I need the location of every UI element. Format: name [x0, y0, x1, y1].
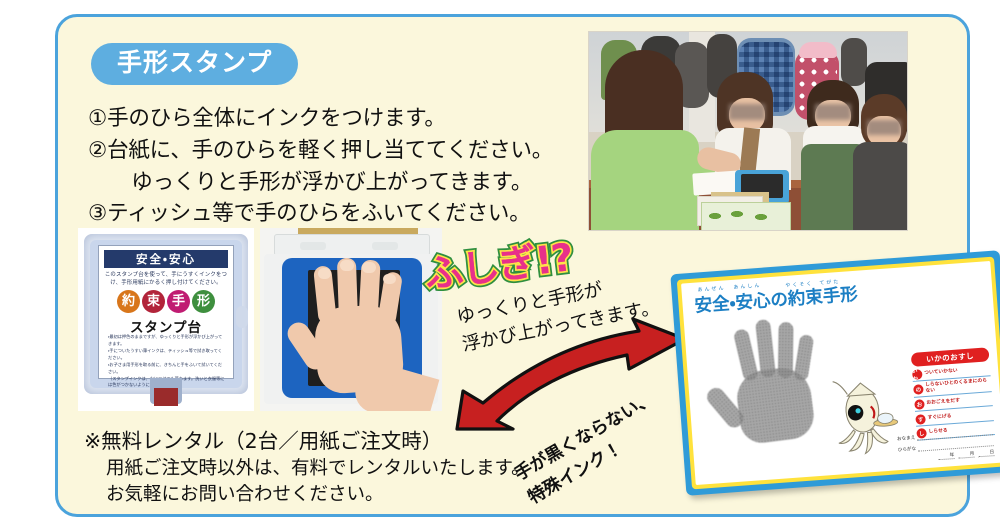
case-fine-line-2: ・手についたうすい薄インクは、ティッシュ等で拭き取ってください。: [108, 348, 226, 362]
case-circle-4: 形: [192, 290, 215, 313]
hand-nail-2: [340, 260, 354, 271]
card-face: あんぜん あんしん やくそく てがた 安全・安心の約束手形: [681, 261, 1000, 485]
case-fine-line-3: ・お子さま用手形を取る前に、きちんと手をふいて拭いてください。: [108, 362, 226, 376]
photo-crowd-person-7: [841, 38, 867, 86]
photo-child-2-face-blur: [815, 104, 851, 120]
ika-text-3: おおごえをだす: [926, 399, 960, 407]
hand-nail-4: [383, 274, 396, 284]
ika-badge-2: の: [913, 384, 924, 395]
case-circle-2: 束: [142, 290, 165, 313]
handprint-finger-middle: [755, 319, 776, 378]
case-circle-3: 手: [167, 290, 190, 313]
photo-box-green-pattern: [707, 208, 783, 224]
content-panel: 手形スタンプ ①手のひら全体にインクをつけます。 ②台紙に、手のひらを軽く押し当…: [55, 14, 970, 517]
section-title-pill: 手形スタンプ: [91, 43, 298, 85]
instruction-step-2-continued: ゆっくりと手形が浮かび上がってきます。: [88, 167, 588, 199]
case-circle-1: 約: [117, 290, 140, 313]
ika-text-2: しらないひとのくるまにのらない: [925, 378, 992, 395]
card-date-day[interactable]: 日: [978, 449, 994, 457]
rental-note: ※無料レンタル（2台／用紙ご注文時） 用紙ご注文時以外は、有料でレンタルいたしま…: [84, 427, 554, 509]
card-date-year[interactable]: 年: [938, 452, 954, 460]
ika-badge-1: いか: [912, 369, 923, 380]
rental-note-line-2: 用紙ご注文時以外は、有料でレンタルいたします。: [84, 456, 554, 482]
instruction-step-1: ①手のひら全体にインクをつけます。: [88, 103, 588, 135]
card-kana-label: ひらがな: [898, 446, 917, 453]
photo-adult-2-face-blur: [867, 120, 901, 135]
handprint-finger-index: [733, 328, 759, 382]
event-photo: [588, 31, 908, 231]
case-fine-line-1: ・最初は押色のままですが、ゆっくりと手形が浮かび上がってきます。: [108, 334, 226, 348]
hand-nail-1: [318, 268, 331, 279]
pad-lid-clip-right: [372, 242, 398, 250]
rental-note-line-3: お気軽にお問い合わせください。: [84, 482, 554, 508]
case-label-title: 安全・安心: [104, 250, 228, 268]
photo-child-1-face-blur: [729, 104, 765, 120]
case-label-circles: 約 束 手 形: [106, 290, 226, 314]
ika-text-1: ついていかない: [924, 368, 958, 376]
handprint-finger-ring: [778, 322, 794, 378]
ika-text-4: すぐにげる: [927, 414, 951, 422]
photo-adult-2-body: [853, 142, 908, 231]
handprint-finger-little: [793, 334, 814, 382]
ink-pad-photo: [260, 228, 442, 411]
hand-nail-3: [362, 262, 376, 273]
photo-child-hat: [799, 42, 837, 58]
instruction-step-3: ③ティッシュ等で手のひらをふいてください。: [88, 198, 588, 230]
case-latch-red: [154, 388, 178, 406]
card-name-fields: おなまえ ひらがな 年 月 日: [896, 424, 994, 463]
pad-lid: [274, 234, 430, 256]
case-label-stamp-text: スタンプ台: [104, 316, 228, 336]
case-label-subtitle: このスタンプ台を使って、手にうすくインクをつけ、手形用紙にかるく押し付けてくださ…: [104, 271, 228, 287]
card-date-month[interactable]: 月: [958, 451, 974, 459]
pad-lid-clip-left: [300, 242, 326, 250]
case-hinge: [236, 306, 248, 328]
instruction-steps: ①手のひら全体にインクをつけます。 ②台紙に、手のひらを軽く押し当ててください。…: [88, 103, 588, 230]
stamp-case-photo: 安全・安心 このスタンプ台を使って、手にうすくインクをつけ、手形用紙にかるく押し…: [78, 228, 254, 411]
card-name-label: おなまえ: [897, 435, 916, 442]
instruction-step-2: ②台紙に、手のひらを軽く押し当ててください。: [88, 135, 588, 167]
ika-badge-4: す: [915, 414, 926, 425]
result-card: あんぜん あんしん やくそく てがた 安全・安心の約束手形: [670, 250, 1000, 496]
ika-badge-3: お: [914, 400, 925, 411]
card-yellow-frame: あんぜん あんしん やくそく てがた 安全・安心の約束手形: [677, 257, 1000, 490]
